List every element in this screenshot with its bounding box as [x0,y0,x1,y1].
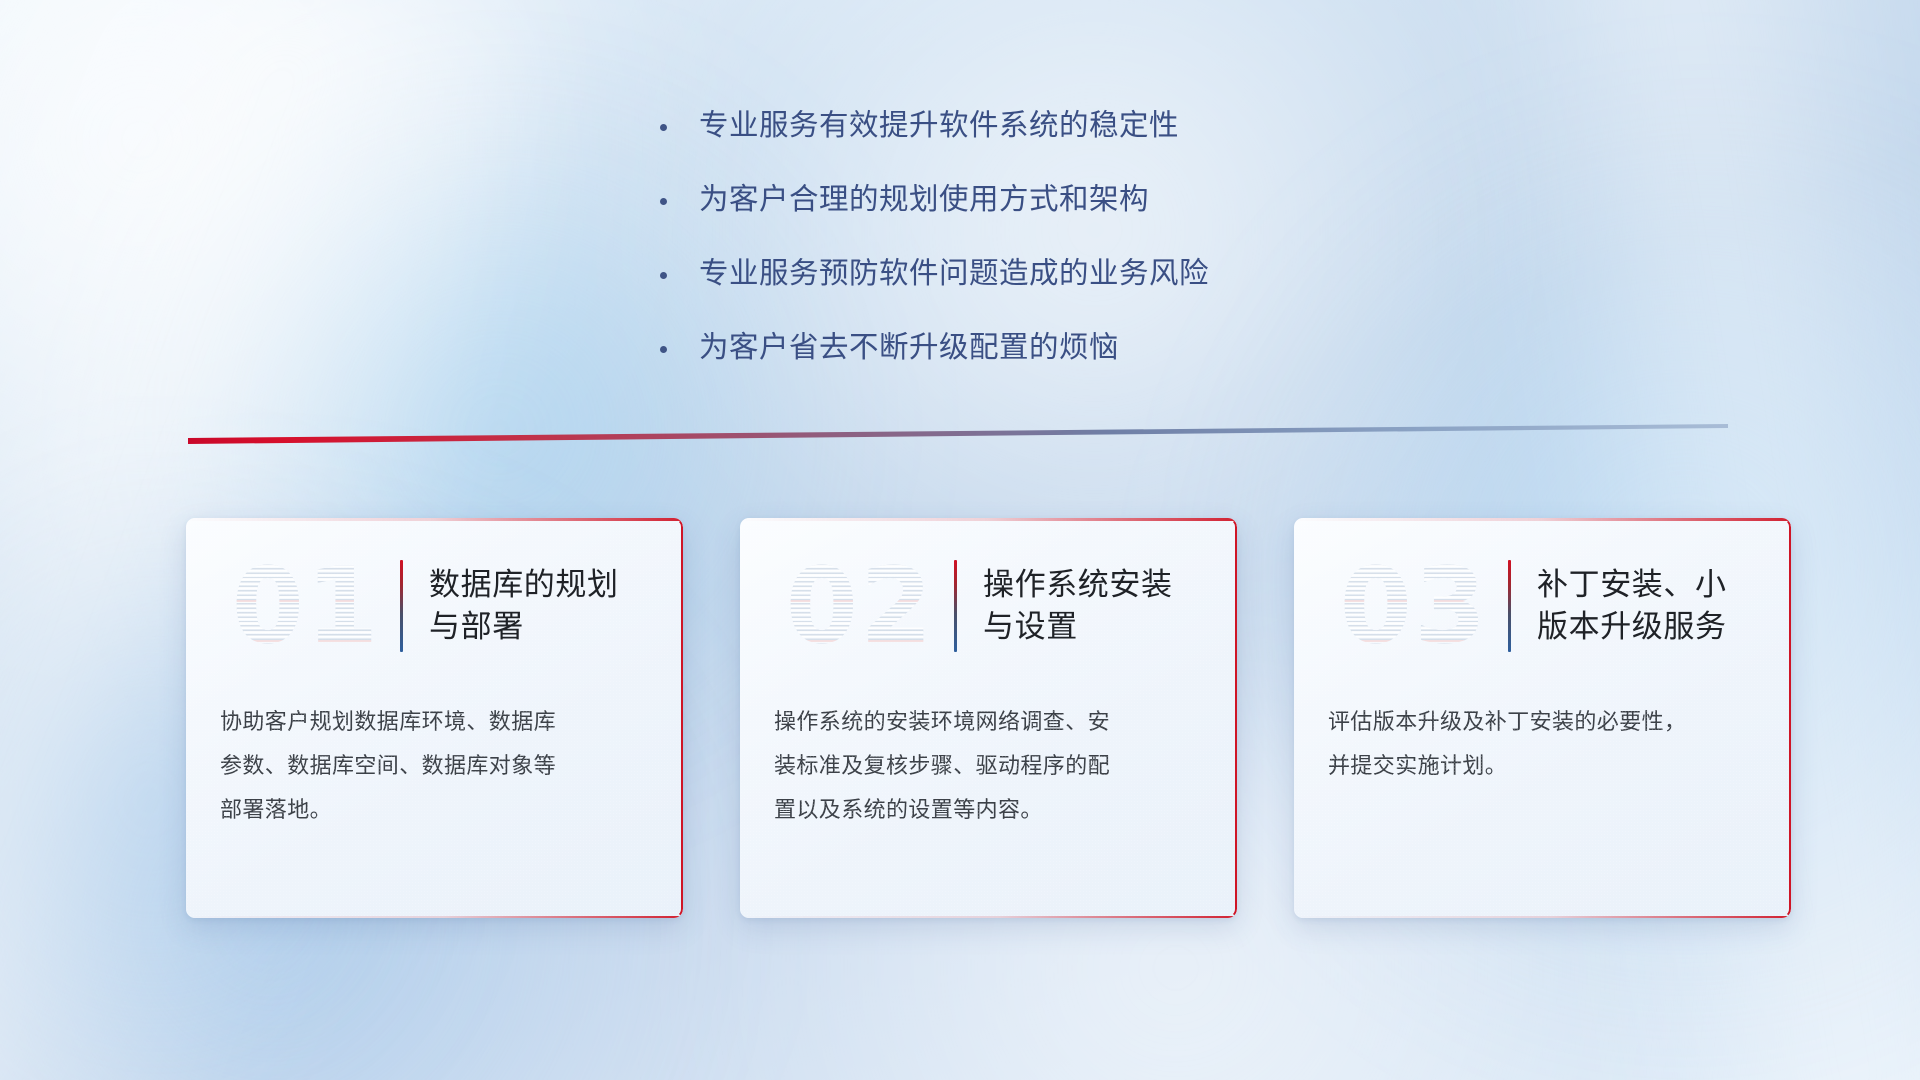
bullet-dot-icon [660,272,667,279]
bullet-item: 为客户省去不断升级配置的烦恼 [660,327,1209,369]
card-number-graphic: 02 02 02 [770,546,950,666]
service-card-row: 01 01 01 数据库的规划 与部署 协助客户规划数据库环境、数据库 参数、数… [186,518,1791,918]
bullet-text: 为客户省去不断升级配置的烦恼 [699,327,1119,369]
card-number-red-tint: 02 [770,546,950,666]
bullet-dot-icon [660,124,667,131]
card-title: 补丁安装、小 版本升级服务 [1537,564,1727,648]
bullet-text: 专业服务有效提升软件系统的稳定性 [699,105,1179,147]
card-accent-bar [954,560,957,652]
bullet-list: 专业服务有效提升软件系统的稳定性 为客户合理的规划使用方式和架构 专业服务预防软… [660,105,1209,369]
card-number-red-tint: 03 [1324,546,1504,666]
card-body-text: 评估版本升级及补丁安装的必要性， 并提交实施计划。 [1294,700,1791,788]
card-body-text: 操作系统的安装环境网络调查、安 装标准及复核步骤、驱动程序的配 置以及系统的设置… [740,700,1237,832]
bullet-item: 专业服务预防软件问题造成的业务风险 [660,253,1209,295]
service-card[interactable]: 03 03 03 补丁安装、小 版本升级服务 评估版本升级及补丁安装的必要性， … [1294,518,1791,918]
card-number-graphic: 01 01 01 [216,546,396,666]
bullet-dot-icon [660,198,667,205]
card-header: 01 01 01 数据库的规划 与部署 [186,518,683,694]
bullet-item: 专业服务有效提升软件系统的稳定性 [660,105,1209,147]
bullet-text: 为客户合理的规划使用方式和架构 [699,179,1149,221]
bullet-dot-icon [660,346,667,353]
card-number-graphic: 03 03 03 [1324,546,1504,666]
bullet-item: 为客户合理的规划使用方式和架构 [660,179,1209,221]
service-card[interactable]: 01 01 01 数据库的规划 与部署 协助客户规划数据库环境、数据库 参数、数… [186,518,683,918]
card-accent-bar [1508,560,1511,652]
card-title: 操作系统安装 与设置 [983,564,1173,648]
card-title: 数据库的规划 与部署 [429,564,619,648]
card-body-text: 协助客户规划数据库环境、数据库 参数、数据库空间、数据库对象等 部署落地。 [186,700,683,832]
bullet-text: 专业服务预防软件问题造成的业务风险 [699,253,1209,295]
card-number-red-tint: 01 [216,546,396,666]
card-accent-bar [400,560,403,652]
card-header: 03 03 03 补丁安装、小 版本升级服务 [1294,518,1791,694]
tapered-divider [188,424,1728,446]
card-header: 02 02 02 操作系统安装 与设置 [740,518,1237,694]
service-card[interactable]: 02 02 02 操作系统安装 与设置 操作系统的安装环境网络调查、安 装标准及… [740,518,1237,918]
